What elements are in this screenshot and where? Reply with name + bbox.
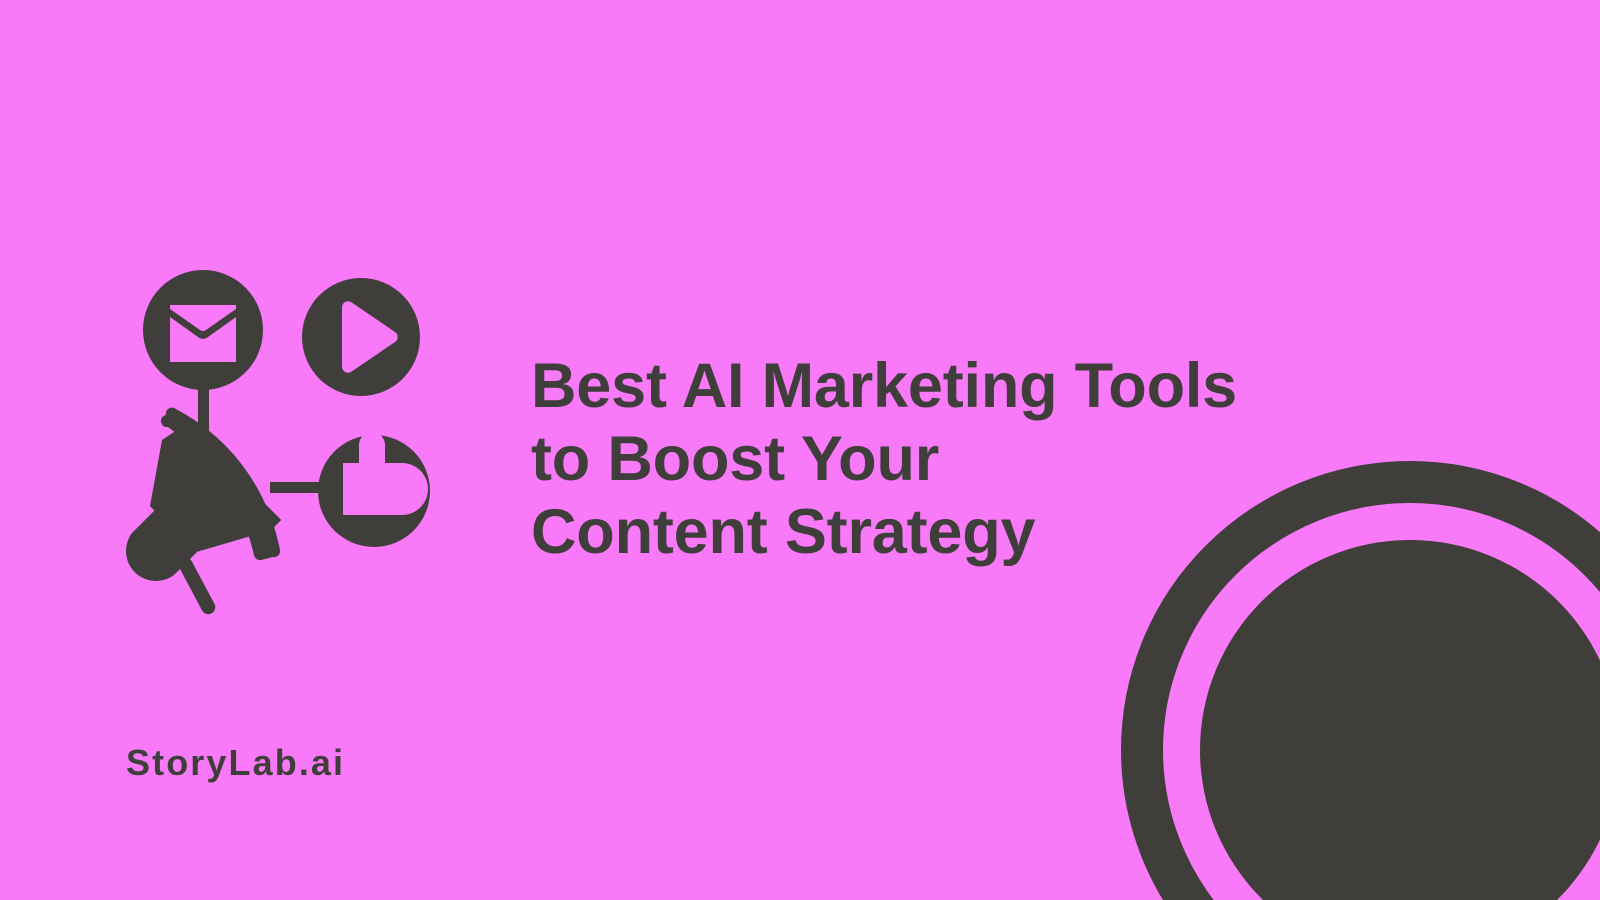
headline: Best AI Marketing Tools to Boost Your Co… — [531, 350, 1331, 569]
banner-canvas: Best AI Marketing Tools to Boost Your Co… — [0, 0, 1600, 900]
headline-line-2: to Boost Your — [531, 423, 1331, 496]
email-icon — [143, 270, 263, 390]
deco-inner-disc — [1200, 540, 1600, 900]
thumbs-up-icon — [318, 432, 430, 547]
marketing-megaphone-illustration — [118, 255, 448, 615]
megaphone-icon — [126, 408, 280, 615]
brand-logo: StoryLab.ai — [126, 742, 345, 784]
headline-line-1: Best AI Marketing Tools — [531, 350, 1331, 423]
video-play-icon — [302, 278, 420, 396]
headline-line-3: Content Strategy — [531, 496, 1331, 569]
